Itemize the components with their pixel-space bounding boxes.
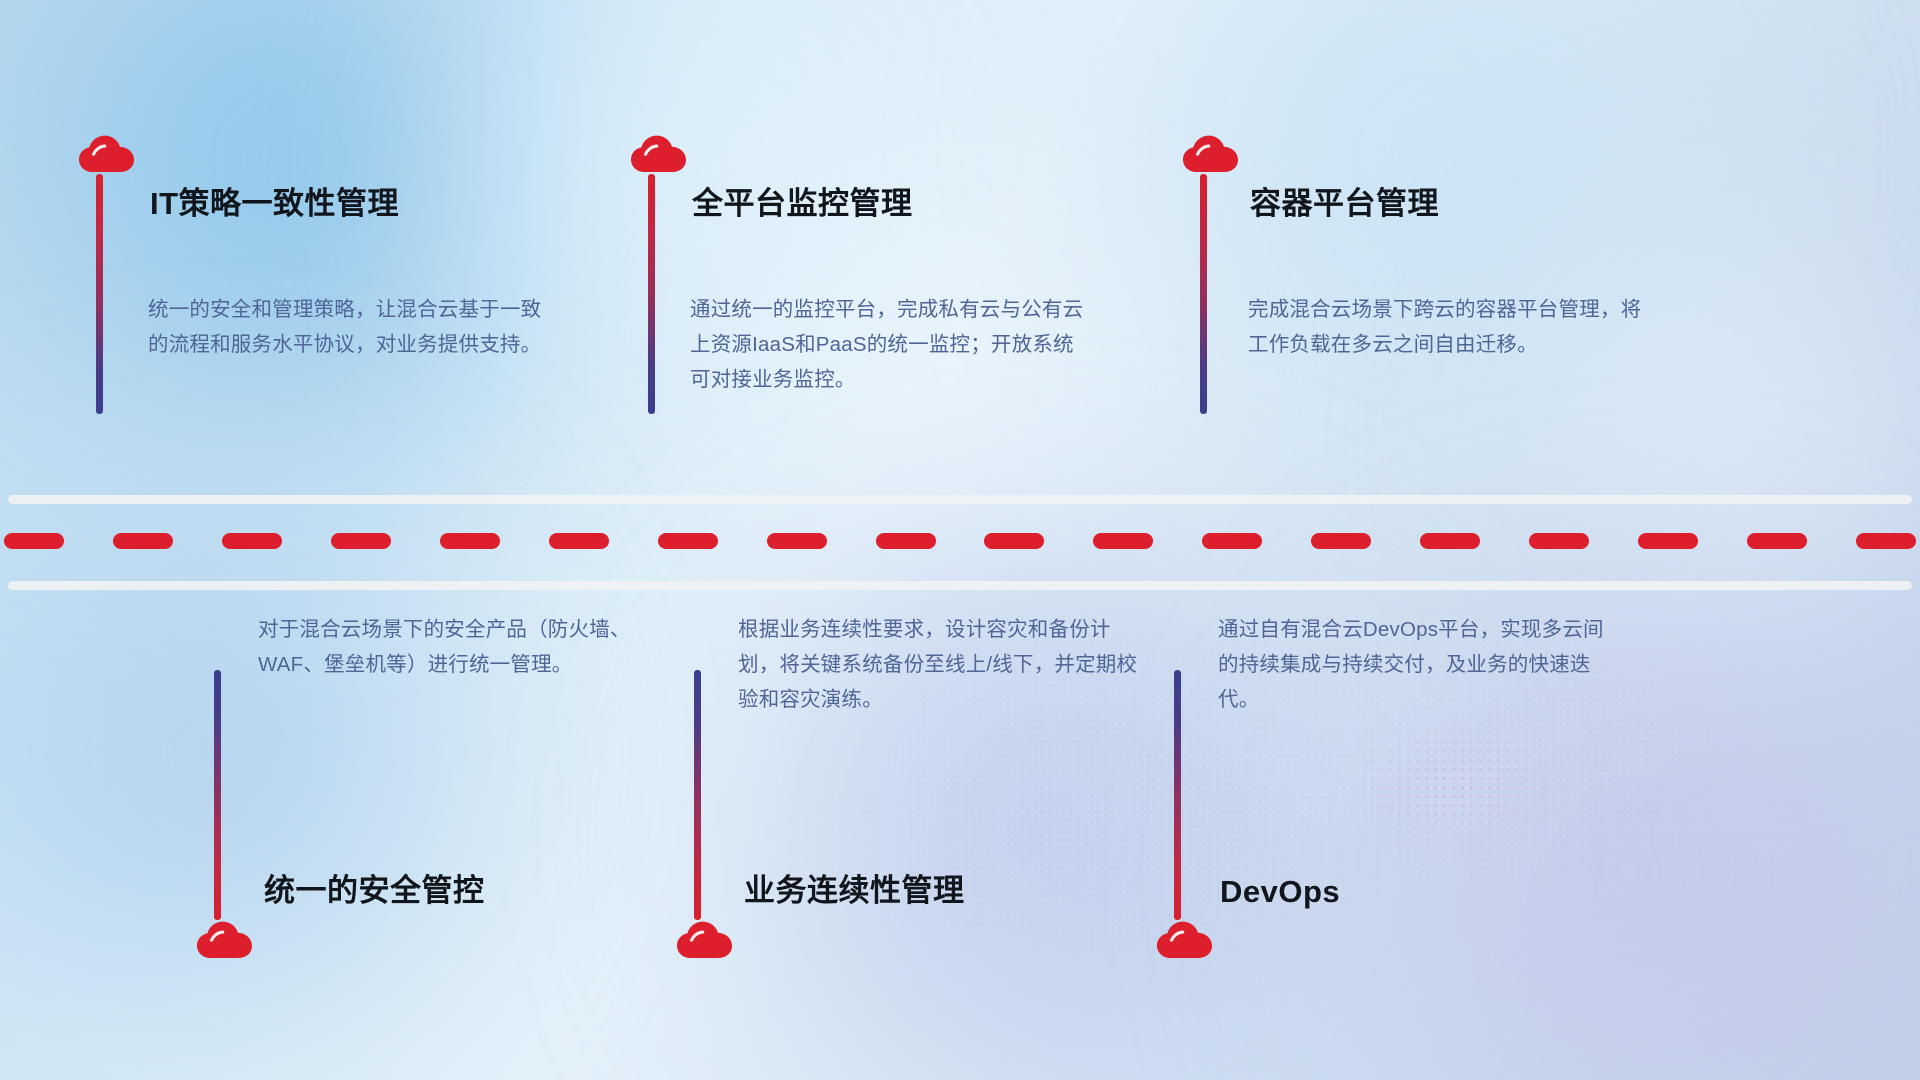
divider-dash — [222, 533, 282, 549]
feature-description: 通过统一的监控平台，完成私有云与公有云上资源IaaS和PaaS的统一监控；开放系… — [690, 292, 1090, 397]
divider-dash — [876, 533, 936, 549]
feature-card-container-platform[interactable]: 容器平台管理 完成混合云场景下跨云的容器平台管理，将工作负载在多云之间自由迁移。 — [1182, 0, 1652, 495]
pin-stem — [1200, 174, 1207, 414]
pin-stem — [214, 670, 221, 920]
red-dashed-separator — [0, 533, 1920, 549]
pin-stem — [96, 174, 103, 414]
divider-dash — [1093, 533, 1153, 549]
cloud-icon — [1156, 920, 1214, 960]
feature-description: 统一的安全和管理策略，让混合云基于一致的流程和服务水平协议，对业务提供支持。 — [148, 292, 548, 362]
feature-title: 业务连续性管理 — [744, 865, 965, 910]
feature-title: 容器平台管理 — [1250, 178, 1439, 223]
divider-dash — [4, 533, 64, 549]
feature-card-it-policy[interactable]: IT策略一致性管理 统一的安全和管理策略，让混合云基于一致的流程和服务水平协议，… — [78, 0, 548, 495]
feature-title: 统一的安全管控 — [264, 865, 485, 910]
pin-marker — [1156, 670, 1218, 960]
feature-card-platform-monitoring[interactable]: 全平台监控管理 通过统一的监控平台，完成私有云与公有云上资源IaaS和PaaS的… — [630, 0, 1100, 495]
divider-dash — [331, 533, 391, 549]
pin-stem — [694, 670, 701, 920]
cloud-icon — [630, 134, 688, 174]
feature-description: 通过自有混合云DevOps平台，实现多云间的持续集成与持续交付，及业务的快速迭代… — [1218, 590, 1618, 717]
divider-dash — [767, 533, 827, 549]
divider-dash — [1202, 533, 1262, 549]
pin-marker — [676, 670, 738, 960]
section-divider — [0, 495, 1920, 590]
cloud-icon — [1182, 134, 1240, 174]
divider-dash — [1311, 533, 1371, 549]
feature-description: 根据业务连续性要求，设计容灾和备份计划，将关键系统备份至线上/线下，并定期校验和… — [738, 590, 1138, 717]
cloud-icon — [196, 920, 254, 960]
divider-dash — [1638, 533, 1698, 549]
pin-stem — [1174, 670, 1181, 920]
feature-title: DevOps — [1220, 874, 1340, 910]
pin-marker — [78, 134, 140, 414]
divider-dash — [440, 533, 500, 549]
cloud-icon — [78, 134, 136, 174]
feature-title: IT策略一致性管理 — [150, 178, 399, 223]
divider-dash — [984, 533, 1044, 549]
pin-marker — [196, 670, 258, 960]
divider-dash — [549, 533, 609, 549]
feature-description: 对于混合云场景下的安全产品（防火墙、WAF、堡垒机等）进行统一管理。 — [258, 590, 658, 682]
divider-rule-bottom — [8, 581, 1912, 590]
feature-card-unified-security[interactable]: 对于混合云场景下的安全产品（防火墙、WAF、堡垒机等）进行统一管理。 统一的安全… — [196, 590, 666, 1080]
top-feature-row: IT策略一致性管理 统一的安全和管理策略，让混合云基于一致的流程和服务水平协议，… — [0, 0, 1920, 495]
pin-marker — [630, 134, 692, 414]
feature-title: 全平台监控管理 — [692, 178, 913, 223]
feature-card-devops[interactable]: 通过自有混合云DevOps平台，实现多云间的持续集成与持续交付，及业务的快速迭代… — [1156, 590, 1626, 1080]
divider-dash — [1747, 533, 1807, 549]
pin-marker — [1182, 134, 1244, 414]
divider-dash — [1529, 533, 1589, 549]
cloud-icon — [676, 920, 734, 960]
pin-stem — [648, 174, 655, 414]
feature-card-business-continuity[interactable]: 根据业务连续性要求，设计容灾和备份计划，将关键系统备份至线上/线下，并定期校验和… — [676, 590, 1146, 1080]
divider-dash — [658, 533, 718, 549]
feature-description: 完成混合云场景下跨云的容器平台管理，将工作负载在多云之间自由迁移。 — [1248, 292, 1648, 362]
divider-dash — [1420, 533, 1480, 549]
divider-dash — [1856, 533, 1916, 549]
divider-dash — [113, 533, 173, 549]
divider-rule-top — [8, 495, 1912, 504]
bottom-feature-row: 对于混合云场景下的安全产品（防火墙、WAF、堡垒机等）进行统一管理。 统一的安全… — [0, 590, 1920, 1080]
